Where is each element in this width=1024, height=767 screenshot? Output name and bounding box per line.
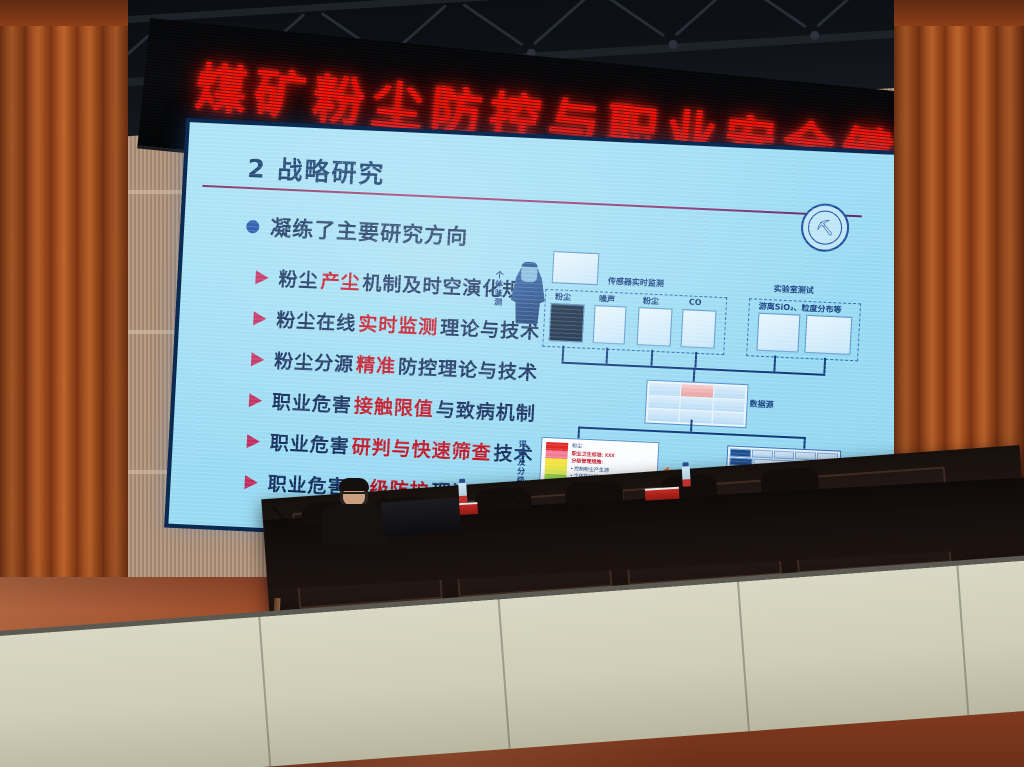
arrow-bullet-icon (255, 270, 269, 285)
bottle-cap (459, 479, 465, 483)
bullet-dot-icon (246, 219, 260, 233)
arrow-bullet-icon (253, 311, 267, 326)
sensor-label: 粉尘 (555, 291, 572, 303)
arrow-bullet-icon (251, 352, 265, 367)
connector (693, 368, 696, 382)
slide-title: 2 战略研究 (247, 149, 387, 191)
list-item: 职业危害 接触限值 与致病机制 (248, 386, 536, 426)
lab-instrument-thumb (756, 313, 800, 353)
worker-head-icon (521, 262, 538, 283)
connector (694, 352, 697, 368)
connector (562, 346, 565, 362)
connector (578, 426, 581, 438)
bottle-label (459, 496, 467, 503)
point-part-b: 产尘 (320, 266, 361, 295)
connector (690, 420, 693, 432)
particle-chart-thumb (804, 315, 852, 355)
arrow-bullet-icon (244, 475, 258, 490)
name-plate (645, 487, 680, 501)
co-sensor-thumb (681, 309, 717, 349)
mask-device-thumb (552, 251, 600, 285)
emblem-glyph: ⛏ (807, 210, 843, 246)
point-part-a: 粉尘 (278, 264, 319, 293)
noise-sensor-thumb (593, 305, 627, 344)
sensor-label: 噪声 (599, 293, 616, 305)
university-emblem: ⛏ (800, 203, 851, 253)
point-part-b: 研判与快速筛查 (351, 432, 492, 465)
list-item: 粉尘分源 精准 防控理论与技术 (251, 345, 539, 385)
sensor-label: CO (689, 297, 702, 307)
laptop[interactable] (381, 497, 461, 536)
data-source-box (644, 380, 748, 429)
glasses-icon (343, 492, 365, 499)
point-part-b: 接触限值 (353, 391, 434, 422)
curtain-rail (0, 0, 128, 26)
dust-sensor-thumb (549, 303, 585, 343)
auditorium-scene: 煤矿粉尘防控与职业安全健康实践学术报告 2 战略研究 ⛏ 凝练了主要研究方向 粉… (0, 0, 1024, 767)
gas-sensor-thumb (637, 307, 673, 347)
point-part-a: 粉尘在线 (276, 305, 357, 336)
point-part-b: 实时监测 (358, 309, 439, 340)
presenter-hair (339, 478, 369, 491)
point-part-a: 职业危害 (271, 387, 352, 418)
connector (803, 437, 806, 449)
sensor-group-title: 传感器实时监测 (608, 276, 665, 290)
connector (823, 358, 826, 374)
arrow-bullet-icon (249, 393, 263, 408)
microphone-head (271, 499, 277, 503)
main-bullet: 凝练了主要研究方向 (246, 211, 469, 251)
chair-back (564, 480, 623, 505)
main-bullet-label: 凝练了主要研究方向 (270, 212, 469, 251)
presenter-torso (322, 504, 388, 544)
microphone-head (504, 482, 510, 486)
point-part-a: 粉尘分源 (274, 346, 355, 377)
list-item: 职业危害 研判与快速筛查 技术 (246, 427, 534, 467)
data-source-label: 数据源 (749, 398, 774, 410)
bottle-label (682, 479, 690, 486)
personal-monitoring-label: 个体监测 (492, 270, 505, 306)
bottle-cap (682, 462, 688, 466)
point-part-b: 精准 (355, 350, 396, 379)
chair-back (475, 487, 532, 512)
point-part-a: 职业危害 (269, 428, 350, 459)
sensor-label: 粉尘 (643, 295, 660, 307)
arrow-bullet-icon (247, 434, 261, 449)
list-item: 粉尘在线 实时监测 理论与技术 (253, 304, 541, 344)
connector (606, 348, 609, 364)
curtain-rail (894, 0, 1024, 26)
connector (773, 355, 776, 371)
connector (650, 350, 653, 366)
lab-group-title: 实验室测试 (773, 283, 814, 296)
chair-back (760, 467, 819, 492)
